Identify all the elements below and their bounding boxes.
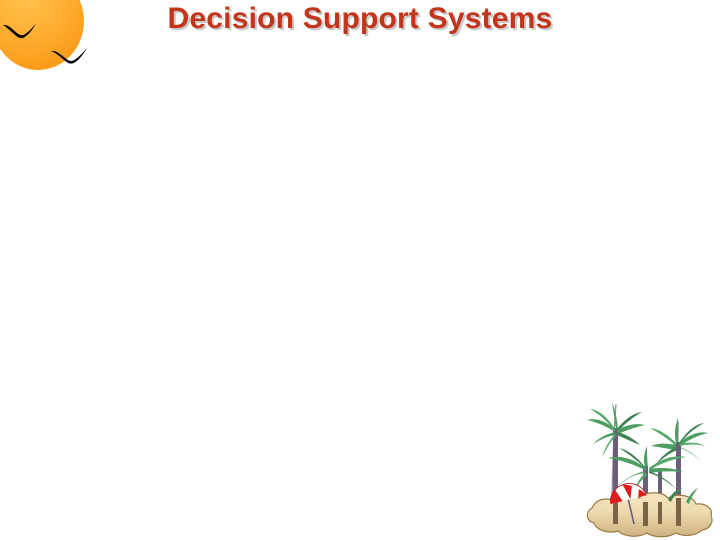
bird-silhouette-icon [50, 46, 92, 73]
tropical-island-illustration [570, 398, 720, 540]
page-title: Decision Support Systems [0, 2, 720, 36]
slide-body [60, 90, 660, 390]
presentation-slide: Decision Support Systems [0, 0, 720, 540]
palm-trunk [676, 498, 681, 526]
sand-mound-shape [587, 493, 712, 537]
palm-trunk [643, 502, 648, 526]
palm-trunk [658, 502, 662, 524]
